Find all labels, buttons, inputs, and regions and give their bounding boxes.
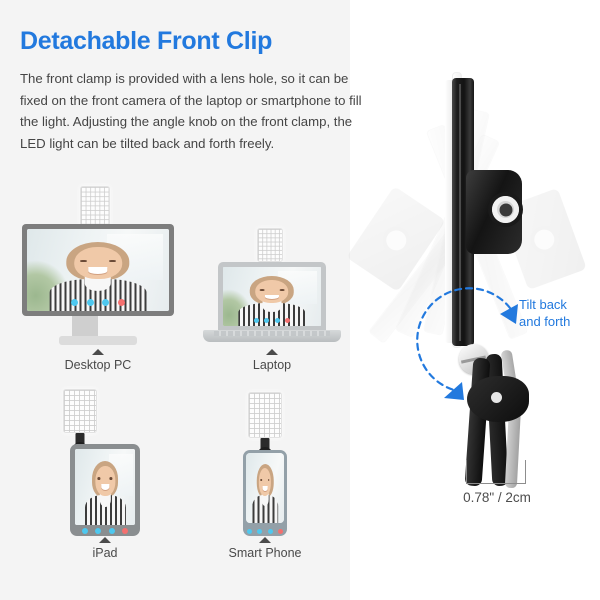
person-face bbox=[259, 468, 272, 496]
person-face bbox=[74, 247, 122, 279]
led-panel-icon bbox=[63, 389, 97, 433]
triangle-up-icon bbox=[92, 349, 104, 355]
call-control-hangup[interactable] bbox=[118, 299, 125, 306]
lens-hole-icon bbox=[492, 196, 519, 223]
video-call-screen-ipad bbox=[75, 449, 135, 525]
triangle-up-icon bbox=[99, 537, 111, 543]
call-control-share[interactable] bbox=[268, 529, 273, 534]
call-control-camera[interactable] bbox=[257, 529, 262, 534]
monitor-foot bbox=[59, 336, 137, 345]
person-smile bbox=[101, 484, 109, 490]
call-controls-laptop[interactable] bbox=[252, 318, 291, 323]
call-control-share[interactable] bbox=[275, 318, 280, 323]
led-panel-ipad bbox=[63, 389, 97, 433]
call-control-mic[interactable] bbox=[247, 529, 252, 534]
device-label-smart-phone: Smart Phone bbox=[205, 546, 325, 560]
triangle-up-icon bbox=[266, 349, 278, 355]
person-eye-right bbox=[109, 260, 116, 263]
triangle-up-icon bbox=[259, 537, 271, 543]
device-label-ipad: iPad bbox=[45, 546, 165, 560]
call-controls-phone[interactable] bbox=[247, 528, 284, 534]
call-control-share[interactable] bbox=[109, 528, 115, 534]
person-eye-right bbox=[279, 289, 284, 291]
call-control-hangup[interactable] bbox=[285, 318, 290, 323]
led-panel-phone bbox=[248, 392, 282, 438]
led-panel-icon bbox=[248, 392, 282, 438]
call-control-mic[interactable] bbox=[71, 299, 78, 306]
device-label-desktop-pc: Desktop PC bbox=[38, 358, 158, 372]
desktop-monitor bbox=[22, 224, 174, 316]
led-panel-icon bbox=[80, 186, 110, 226]
tilt-annotation-line2: and forth bbox=[519, 314, 570, 329]
monitor-neck bbox=[72, 316, 98, 336]
call-control-mic[interactable] bbox=[254, 318, 259, 323]
laptop-keyboard bbox=[214, 331, 330, 336]
call-control-camera[interactable] bbox=[87, 299, 94, 306]
call-control-hangup[interactable] bbox=[122, 528, 128, 534]
device-label-laptop: Laptop bbox=[212, 358, 332, 372]
person-eye-left bbox=[260, 289, 265, 291]
led-panel-desktop bbox=[80, 186, 110, 226]
infographic-stage: Detachable Front Clip The front clamp is… bbox=[0, 0, 600, 600]
call-control-camera[interactable] bbox=[264, 318, 269, 323]
video-call-screen-phone bbox=[246, 453, 284, 523]
person-on-call bbox=[253, 463, 277, 523]
call-control-share[interactable] bbox=[102, 299, 109, 306]
person-on-call bbox=[86, 460, 123, 525]
dimension-bracket bbox=[466, 460, 526, 484]
laptop bbox=[218, 262, 326, 330]
call-controls-desktop[interactable] bbox=[67, 299, 130, 306]
person-face bbox=[95, 466, 115, 496]
clamp-pivot-pin bbox=[491, 392, 502, 403]
tilt-annotation-line1: Tilt back bbox=[519, 297, 567, 312]
led-panel-icon bbox=[257, 228, 283, 262]
call-control-camera[interactable] bbox=[95, 528, 101, 534]
page-title: Detachable Front Clip bbox=[20, 27, 272, 56]
smart-phone bbox=[243, 450, 287, 536]
tilt-annotation: Tilt back and forth bbox=[519, 296, 570, 330]
person-smile bbox=[265, 295, 278, 300]
video-call-screen-desktop bbox=[27, 229, 169, 311]
person-eye-left bbox=[260, 479, 262, 481]
person-face bbox=[256, 280, 289, 303]
call-controls-ipad[interactable] bbox=[80, 527, 130, 534]
led-panel-laptop bbox=[257, 228, 283, 262]
ipad bbox=[70, 444, 140, 536]
page-description: The front clamp is provided with a lens … bbox=[20, 68, 365, 154]
dimension-label: 0.78" / 2cm bbox=[455, 490, 539, 505]
call-control-hangup[interactable] bbox=[278, 529, 283, 534]
call-control-mic[interactable] bbox=[82, 528, 88, 534]
video-call-screen-laptop bbox=[223, 267, 321, 326]
